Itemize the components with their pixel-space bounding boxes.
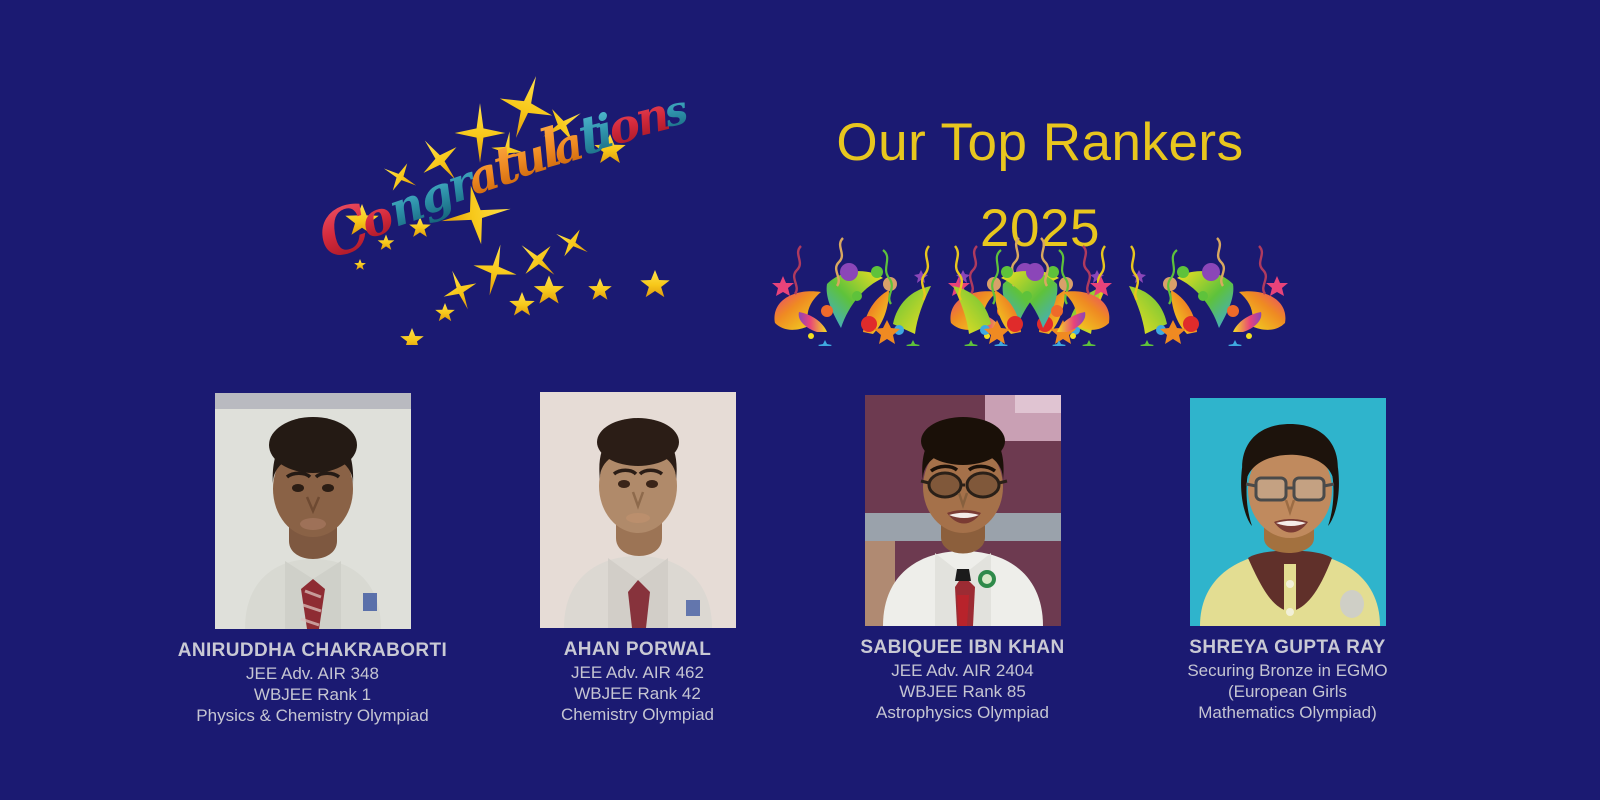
ranker-detail: Securing Bronze in EGMO bbox=[1187, 660, 1387, 681]
ranker-photo bbox=[215, 393, 411, 629]
ranker-name: SABIQUEE IBN KHAN bbox=[860, 635, 1064, 660]
ranker-detail: Astrophysics Olympiad bbox=[876, 702, 1049, 723]
ranker-detail: WBJEE Rank 1 bbox=[254, 684, 371, 705]
congratulations-starburst-icon: C o n g r a t u l a t i o n s bbox=[300, 55, 700, 345]
ranker-photo bbox=[540, 392, 736, 628]
ranker-name: ANIRUDDHA CHAKRABORTI bbox=[178, 638, 447, 663]
ranker-name: SHREYA GUPTA RAY bbox=[1189, 635, 1385, 660]
ranker-detail: JEE Adv. AIR 348 bbox=[246, 663, 379, 684]
ranker-photo bbox=[1190, 398, 1386, 626]
ranker-detail: Physics & Chemistry Olympiad bbox=[196, 705, 428, 726]
ranker-name: AHAN PORWAL bbox=[564, 637, 712, 662]
ranker-detail: Chemistry Olympiad bbox=[561, 704, 714, 725]
ranker-detail: JEE Adv. AIR 462 bbox=[571, 662, 704, 683]
ranker-card: AHAN PORWAL JEE Adv. AIR 462 WBJEE Rank … bbox=[475, 388, 800, 725]
rankers-list: ANIRUDDHA CHAKRABORTI JEE Adv. AIR 348 W… bbox=[0, 388, 1600, 726]
ranker-detail: WBJEE Rank 85 bbox=[899, 681, 1026, 702]
ranker-detail: (European Girls bbox=[1228, 681, 1347, 702]
ranker-detail: WBJEE Rank 42 bbox=[574, 683, 701, 704]
confetti-burst-icon bbox=[765, 228, 1295, 346]
ranker-card: SHREYA GUPTA RAY Securing Bronze in EGMO… bbox=[1125, 388, 1450, 723]
ranker-card: ANIRUDDHA CHAKRABORTI JEE Adv. AIR 348 W… bbox=[150, 388, 475, 726]
title-line-1: Our Top Rankers bbox=[760, 100, 1320, 186]
congratulations-poster: C o n g r a t u l a t i o n s Our Top Ra… bbox=[0, 0, 1600, 800]
ranker-photo bbox=[865, 395, 1061, 626]
ranker-detail: JEE Adv. AIR 2404 bbox=[891, 660, 1033, 681]
ranker-detail: Mathematics Olympiad) bbox=[1198, 702, 1377, 723]
ranker-card: SABIQUEE IBN KHAN JEE Adv. AIR 2404 WBJE… bbox=[800, 388, 1125, 723]
